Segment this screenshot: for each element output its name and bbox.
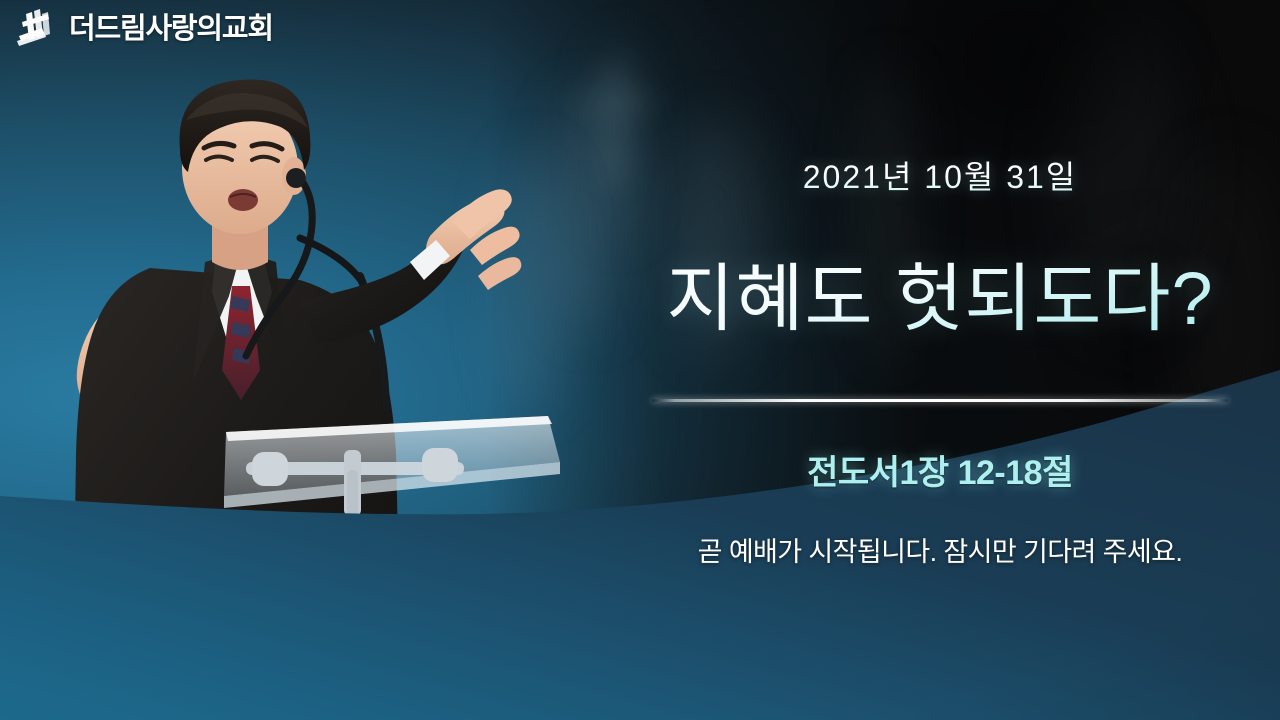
slide-text-panel: 2021년 10월 31일 2021년 10월 31일 지혜도 헛되도다? 지혜…	[600, 0, 1280, 720]
service-starting-notice: 곧 예배가 시작됩니다. 잠시만 기다려 주세요.	[600, 530, 1280, 569]
service-date: 2021년 10월 31일	[600, 152, 1280, 198]
church-flame-cross-mark	[14, 8, 60, 50]
church-name: 더드림사랑의교회	[69, 8, 273, 50]
stream-waiting-slide: 더드림사랑의교회 2021년 10월 31일 2021년 10월 31일 지혜도…	[0, 0, 1280, 720]
divider-line	[652, 399, 1228, 402]
church-logo[interactable]: 더드림사랑의교회	[14, 8, 273, 50]
scripture-reference: 전도서1장 12-18절	[600, 445, 1280, 494]
sermon-title: 지혜도 헛되도다?	[600, 258, 1280, 341]
